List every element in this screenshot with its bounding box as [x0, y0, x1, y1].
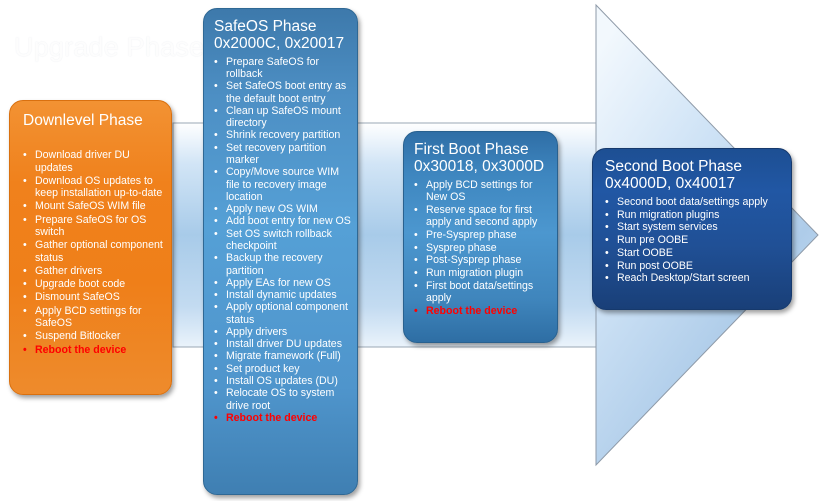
- bullet-icon: •: [214, 326, 218, 338]
- phase-item: •Apply optional component status: [214, 301, 351, 326]
- bullet-icon: •: [414, 229, 418, 241]
- phase-item: •Download OS updates to keep installatio…: [23, 175, 163, 200]
- phase-item: •Prepare SafeOS for OS switch: [23, 214, 163, 239]
- phase-item: •Install driver DU updates: [214, 338, 351, 350]
- phase-item: •Run post OOBE: [605, 260, 785, 272]
- bullet-icon: •: [414, 204, 418, 216]
- phase-item: •Reboot the device: [23, 344, 163, 356]
- phase-item-label: Run migration plugins: [617, 209, 719, 221]
- phase-item-label: Second boot data/settings apply: [617, 196, 768, 208]
- phase-inner-secondboot: Second Boot Phase 0x4000D, 0x40017 •Seco…: [593, 149, 791, 309]
- phase-item: •Start system services: [605, 221, 785, 233]
- phase-item: •Reboot the device: [214, 412, 351, 424]
- phase-item: •Set product key: [214, 363, 351, 375]
- bullet-icon: •: [23, 149, 27, 161]
- bullet-icon: •: [214, 252, 218, 264]
- phase-item-label: Install driver DU updates: [226, 338, 342, 350]
- phase-item-label: Reboot the device: [226, 412, 317, 424]
- phase-title-secondboot: Second Boot Phase: [605, 158, 785, 175]
- phase-item: •Install OS updates (DU): [214, 375, 351, 387]
- bullet-icon: •: [23, 265, 27, 277]
- phase-item: •Pre-Sysprep phase: [414, 229, 551, 241]
- phase-inner-downlevel: Downlevel Phase •Download driver DU upda…: [10, 101, 171, 394]
- phase-inner-safeos: SafeOS Phase 0x2000C, 0x20017 •Prepare S…: [204, 9, 357, 494]
- phase-item: •Suspend Bitlocker: [23, 330, 163, 342]
- phase-item-label: Reboot the device: [35, 344, 126, 356]
- phase-item-label: Apply drivers: [226, 326, 287, 338]
- bullet-icon: •: [605, 247, 609, 259]
- phase-item-label: Apply new OS WIM: [226, 203, 318, 215]
- phase-item: •Apply new OS WIM: [214, 203, 351, 215]
- phase-item: •Download driver DU updates: [23, 149, 163, 174]
- bullet-icon: •: [214, 228, 218, 240]
- bullet-icon: •: [214, 215, 218, 227]
- phase-item-label: Download driver DU updates: [35, 149, 130, 173]
- phase-item-label: Migrate framework (Full): [226, 350, 341, 362]
- phase-item: •Backup the recovery partition: [214, 252, 351, 277]
- phase-item-label: Add boot entry for new OS: [226, 215, 351, 227]
- phase-item-label: Reach Desktop/Start screen: [617, 272, 749, 284]
- phase-item-label: Prepare SafeOS for OS switch: [35, 214, 146, 238]
- bullet-icon: •: [605, 272, 609, 284]
- bullet-icon: •: [605, 196, 609, 208]
- phase-item-label: Set recovery partition marker: [226, 142, 326, 166]
- phase-list-firstboot: •Apply BCD settings for New OS•Reserve s…: [414, 179, 551, 318]
- phase-item-label: Set SafeOS boot entry as the default boo…: [226, 80, 346, 104]
- bullet-icon: •: [214, 301, 218, 313]
- bullet-icon: •: [414, 179, 418, 191]
- phase-item: •Migrate framework (Full): [214, 350, 351, 362]
- phase-item-label: Upgrade boot code: [35, 278, 125, 290]
- phase-card-safeos[interactable]: SafeOS Phase 0x2000C, 0x20017 •Prepare S…: [203, 8, 358, 495]
- bullet-icon: •: [414, 267, 418, 279]
- bullet-icon: •: [23, 291, 27, 303]
- phase-item: •Add boot entry for new OS: [214, 215, 351, 227]
- phase-item-label: Prepare SafeOS for rollback: [226, 56, 319, 80]
- phase-item-label: Gather drivers: [35, 265, 102, 277]
- phase-title-downlevel: Downlevel Phase: [23, 112, 163, 129]
- phase-item: •Set recovery partition marker: [214, 142, 351, 167]
- phase-item-label: First boot data/settings apply: [426, 280, 533, 304]
- phase-item-label: Apply optional component status: [226, 301, 348, 325]
- phase-item: •Relocate OS to system drive root: [214, 387, 351, 412]
- phase-item-label: Run post OOBE: [617, 260, 693, 272]
- bullet-icon: •: [23, 305, 27, 317]
- phase-item: •Apply drivers: [214, 326, 351, 338]
- phase-item-label: Run pre OOBE: [617, 234, 688, 246]
- phase-item-label: Sysprep phase: [426, 242, 497, 254]
- phase-item: •Start OOBE: [605, 247, 785, 259]
- phase-item-label: Reboot the device: [426, 305, 517, 317]
- phase-item-label: Apply BCD settings for New OS: [426, 179, 533, 203]
- bullet-icon: •: [23, 239, 27, 251]
- phase-item: •Reboot the device: [414, 305, 551, 317]
- phase-list-safeos: •Prepare SafeOS for rollback•Set SafeOS …: [214, 56, 351, 424]
- phase-item: •Mount SafeOS WIM file: [23, 200, 163, 212]
- phase-item-label: Pre-Sysprep phase: [426, 229, 517, 241]
- phase-item: •Prepare SafeOS for rollback: [214, 56, 351, 81]
- phase-card-secondboot[interactable]: Second Boot Phase 0x4000D, 0x40017 •Seco…: [592, 148, 792, 310]
- bullet-icon: •: [214, 412, 218, 424]
- phase-item: •Install dynamic updates: [214, 289, 351, 301]
- bullet-icon: •: [214, 277, 218, 289]
- diagram-canvas: Upgrade Phases Downlevel Phase •Download…: [0, 0, 825, 501]
- phase-item-label: Start system services: [617, 221, 718, 233]
- bullet-icon: •: [414, 254, 418, 266]
- phase-item: •Reserve space for first apply and secon…: [414, 204, 551, 229]
- bullet-icon: •: [605, 221, 609, 233]
- bullet-icon: •: [214, 56, 218, 68]
- phase-item: •Upgrade boot code: [23, 278, 163, 290]
- phase-item: •Sysprep phase: [414, 242, 551, 254]
- phase-item-label: Apply BCD settings for SafeOS: [35, 305, 142, 329]
- bullet-icon: •: [214, 350, 218, 362]
- bullet-icon: •: [605, 209, 609, 221]
- bullet-icon: •: [23, 278, 27, 290]
- phase-item: •Set OS switch rollback checkpoint: [214, 228, 351, 253]
- bullet-icon: •: [23, 175, 27, 187]
- bullet-icon: •: [214, 387, 218, 399]
- bullet-icon: •: [214, 129, 218, 141]
- bullet-icon: •: [414, 280, 418, 292]
- phase-item-label: Start OOBE: [617, 247, 673, 259]
- bullet-icon: •: [214, 363, 218, 375]
- phase-item: •Run pre OOBE: [605, 234, 785, 246]
- phase-item-label: Mount SafeOS WIM file: [35, 200, 146, 212]
- bullet-icon: •: [214, 203, 218, 215]
- phase-item: •Set SafeOS boot entry as the default bo…: [214, 80, 351, 105]
- phase-item-label: Set product key: [226, 363, 300, 375]
- phase-card-firstboot[interactable]: First Boot Phase 0x30018, 0x3000D •Apply…: [403, 131, 558, 343]
- phase-item-label: Run migration plugin: [426, 267, 523, 279]
- phase-item: •Post-Sysprep phase: [414, 254, 551, 266]
- bullet-icon: •: [214, 80, 218, 92]
- phase-title-firstboot: First Boot Phase: [414, 141, 551, 158]
- bullet-icon: •: [214, 338, 218, 350]
- phase-card-downlevel[interactable]: Downlevel Phase •Download driver DU upda…: [9, 100, 172, 395]
- phase-item-label: Set OS switch rollback checkpoint: [226, 228, 332, 252]
- phase-item-label: Download OS updates to keep installation…: [35, 175, 162, 199]
- bullet-icon: •: [605, 234, 609, 246]
- phase-item-label: Reserve space for first apply and second…: [426, 204, 537, 228]
- phase-item: •Apply EAs for new OS: [214, 277, 351, 289]
- phase-list-downlevel: •Download driver DU updates•Download OS …: [23, 149, 163, 356]
- phase-title-safeos: SafeOS Phase: [214, 18, 351, 35]
- phase-item-label: Dismount SafeOS: [35, 291, 120, 303]
- phase-item-label: Install OS updates (DU): [226, 375, 338, 387]
- phase-item: •Gather optional component status: [23, 239, 163, 264]
- phase-item: •Gather drivers: [23, 265, 163, 277]
- phase-item: •Clean up SafeOS mount directory: [214, 105, 351, 130]
- phase-code-secondboot: 0x4000D, 0x40017: [605, 175, 785, 192]
- phase-item-label: Gather optional component status: [35, 239, 163, 263]
- bullet-icon: •: [414, 305, 418, 317]
- phase-inner-firstboot: First Boot Phase 0x30018, 0x3000D •Apply…: [404, 132, 557, 342]
- phase-item: •Run migration plugins: [605, 209, 785, 221]
- phase-list-secondboot: •Second boot data/settings apply•Run mig…: [605, 196, 785, 285]
- bullet-icon: •: [23, 344, 27, 356]
- bullet-icon: •: [214, 166, 218, 178]
- bullet-icon: •: [23, 214, 27, 226]
- bullet-icon: •: [214, 142, 218, 154]
- phase-item-label: Clean up SafeOS mount directory: [226, 105, 341, 129]
- bullet-icon: •: [605, 260, 609, 272]
- phase-item-label: Post-Sysprep phase: [426, 254, 521, 266]
- bullet-icon: •: [214, 289, 218, 301]
- phase-item-label: Copy/Move source WIM file to recovery im…: [226, 166, 339, 203]
- phase-code-firstboot: 0x30018, 0x3000D: [414, 158, 551, 175]
- phase-item-label: Backup the recovery partition: [226, 252, 323, 276]
- bullet-icon: •: [23, 200, 27, 212]
- phase-item-label: Install dynamic updates: [226, 289, 337, 301]
- bullet-icon: •: [414, 242, 418, 254]
- bullet-icon: •: [23, 330, 27, 342]
- bullet-icon: •: [214, 105, 218, 117]
- diagram-watermark-title: Upgrade Phases: [14, 32, 218, 63]
- phase-item: •Dismount SafeOS: [23, 291, 163, 303]
- phase-code-safeos: 0x2000C, 0x20017: [214, 35, 351, 52]
- bullet-icon: •: [214, 375, 218, 387]
- phase-item-label: Apply EAs for new OS: [226, 277, 331, 289]
- phase-item: •Reach Desktop/Start screen: [605, 272, 785, 284]
- phase-item-label: Relocate OS to system drive root: [226, 387, 334, 411]
- phase-item: •Copy/Move source WIM file to recovery i…: [214, 166, 351, 203]
- phase-item: •First boot data/settings apply: [414, 280, 551, 305]
- phase-item: •Shrink recovery partition: [214, 129, 351, 141]
- phase-item: •Second boot data/settings apply: [605, 196, 785, 208]
- phase-item: •Run migration plugin: [414, 267, 551, 279]
- phase-item: •Apply BCD settings for SafeOS: [23, 305, 163, 330]
- phase-item-label: Shrink recovery partition: [226, 129, 340, 141]
- phase-item: •Apply BCD settings for New OS: [414, 179, 551, 204]
- phase-item-label: Suspend Bitlocker: [35, 330, 120, 342]
